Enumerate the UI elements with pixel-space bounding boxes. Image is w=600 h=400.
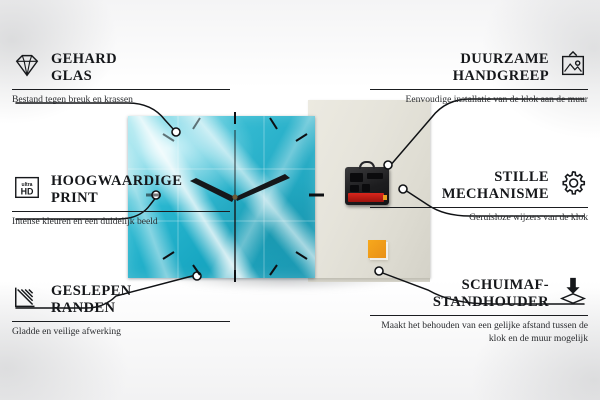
glass-pane-line-h bbox=[128, 168, 315, 170]
mechanism-slot-a bbox=[350, 173, 363, 182]
callout-header: GEHARD GLAS bbox=[12, 50, 230, 85]
gear-icon bbox=[558, 168, 588, 198]
callout-title: GEHARD GLAS bbox=[51, 50, 117, 85]
diamond-gem-icon bbox=[12, 50, 42, 80]
callout-subtitle: Gladde en veilige afwerking bbox=[12, 326, 230, 339]
foam-spacer-pad bbox=[368, 240, 386, 258]
callout-divider bbox=[370, 89, 588, 90]
callout-divider bbox=[12, 211, 230, 212]
callout-foam-standholder: SCHUIMAF- STANDHOUDER Maakt het behouden… bbox=[370, 276, 588, 346]
beveled-edges-icon bbox=[12, 282, 42, 312]
callout-header: GESLEPEN RANDEN bbox=[12, 282, 230, 317]
callout-divider bbox=[12, 321, 230, 322]
picture-frame-hanger-icon bbox=[558, 50, 588, 80]
infographic-canvas: GEHARD GLAS Bestand tegen breuk en krass… bbox=[0, 0, 600, 400]
callout-header: STILLE MECHANISME bbox=[370, 168, 588, 203]
callout-silent-mechanism: STILLE MECHANISME Geruisloze wijzers van… bbox=[370, 168, 588, 225]
callout-subtitle: Maakt het behouden van een gelijke afsta… bbox=[370, 320, 588, 346]
callout-ground-edges: GESLEPEN RANDEN Gladde en veilige afwerk… bbox=[12, 282, 230, 339]
callout-subtitle: Geruisloze wijzers van de klok bbox=[370, 212, 588, 225]
callout-title: DUURZAME HANDGREEP bbox=[453, 50, 549, 85]
callout-header: DUURZAME HANDGREEP bbox=[370, 50, 588, 85]
callout-title: STILLE MECHANISME bbox=[442, 168, 549, 203]
callout-title: GESLEPEN RANDEN bbox=[51, 282, 132, 317]
callout-tempered-glass: GEHARD GLAS Bestand tegen breuk en krass… bbox=[12, 50, 230, 107]
ultra-hd-badge-icon: ultra HD bbox=[12, 172, 42, 202]
mechanism-slot-d bbox=[362, 184, 370, 192]
callout-divider bbox=[370, 315, 588, 316]
callout-title: HOOGWAARDIGE PRINT bbox=[51, 172, 182, 207]
callout-header: SCHUIMAF- STANDHOUDER bbox=[370, 276, 588, 311]
glass-pane-line-v2 bbox=[263, 116, 265, 278]
mechanism-slot-c bbox=[350, 185, 359, 192]
callout-header: ultra HD HOOGWAARDIGE PRINT bbox=[12, 172, 230, 207]
callout-hd-print: ultra HD HOOGWAARDIGE PRINT Intense kleu… bbox=[12, 172, 230, 229]
callout-divider bbox=[370, 207, 588, 208]
callout-subtitle: Eenvoudige installatie van de klok aan d… bbox=[370, 94, 588, 107]
callout-durable-handle: DUURZAME HANDGREEP Eenvoudige installati… bbox=[370, 50, 588, 107]
callout-title: SCHUIMAF- STANDHOUDER bbox=[433, 276, 549, 311]
foam-spacer-arrow-icon bbox=[558, 276, 588, 306]
callout-subtitle: Intense kleuren en een duidelijk beeld bbox=[12, 216, 230, 229]
svg-text:HD: HD bbox=[21, 187, 34, 197]
callout-subtitle: Bestand tegen breuk en krassen bbox=[12, 94, 230, 107]
callout-divider bbox=[12, 89, 230, 90]
